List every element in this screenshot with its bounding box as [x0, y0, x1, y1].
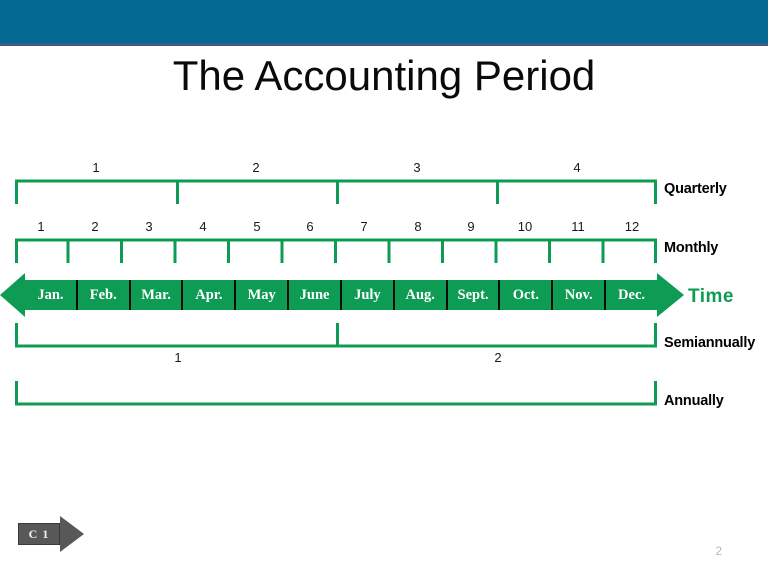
month-cell: Dec. [606, 280, 657, 310]
monthly-tick-label: 12 [625, 219, 639, 234]
quarterly-tick-label: 4 [573, 160, 580, 175]
monthly-tick-label: 10 [518, 219, 532, 234]
month-bar: Jan. Feb. Mar. Apr. May June July Aug. S… [25, 280, 657, 310]
arrow-right-icon [657, 273, 684, 317]
quarterly-bracket [0, 178, 768, 218]
month-cell: Nov. [553, 280, 606, 310]
page-title: The Accounting Period [0, 52, 768, 100]
accounting-period-timeline: 1 2 3 4 Quarterly 1 2 3 4 5 [0, 150, 768, 430]
arrow-right-icon [60, 516, 84, 552]
monthly-tick-label: 3 [145, 219, 152, 234]
arrow-left-icon [0, 273, 25, 317]
month-cell: Mar. [131, 280, 184, 310]
chapter-badge[interactable]: C 1 [18, 516, 84, 552]
month-cell: Sept. [448, 280, 501, 310]
monthly-tick-label: 6 [306, 219, 313, 234]
month-cell: Feb. [78, 280, 131, 310]
monthly-tick-label: 7 [360, 219, 367, 234]
annually-bracket [0, 376, 768, 416]
row-label-annually: Annually [664, 393, 724, 409]
month-cell: June [289, 280, 342, 310]
row-label-monthly: Monthly [664, 240, 718, 256]
monthly-bracket [0, 237, 768, 277]
row-label-time: Time [688, 286, 734, 308]
month-cell: Aug. [395, 280, 448, 310]
monthly-tick-label: 2 [91, 219, 98, 234]
monthly-tick-label: 1 [37, 219, 44, 234]
quarterly-tick-label: 3 [413, 160, 420, 175]
month-cell: May [236, 280, 289, 310]
monthly-tick-label: 9 [467, 219, 474, 234]
row-label-quarterly: Quarterly [664, 181, 727, 197]
semiannually-tick-label: 2 [494, 350, 501, 365]
monthly-tick-label: 4 [199, 219, 206, 234]
semiannually-tick-label: 1 [174, 350, 181, 365]
month-cell: Oct. [500, 280, 553, 310]
monthly-tick-label: 8 [414, 219, 421, 234]
monthly-tick-label: 5 [253, 219, 260, 234]
chapter-badge-label: C 1 [18, 523, 60, 545]
header-band [0, 0, 768, 46]
page-number: 2 [715, 544, 722, 558]
quarterly-tick-label: 1 [92, 160, 99, 175]
quarterly-tick-label: 2 [252, 160, 259, 175]
row-label-semiannually: Semiannually [664, 335, 755, 351]
monthly-tick-label: 11 [571, 219, 585, 234]
semiannually-bracket [0, 318, 768, 358]
month-cell: Apr. [183, 280, 236, 310]
month-cell: Jan. [25, 280, 78, 310]
month-cell: July [342, 280, 395, 310]
slide-canvas: The Accounting Period 1 2 3 4 Quarterly [0, 0, 768, 576]
